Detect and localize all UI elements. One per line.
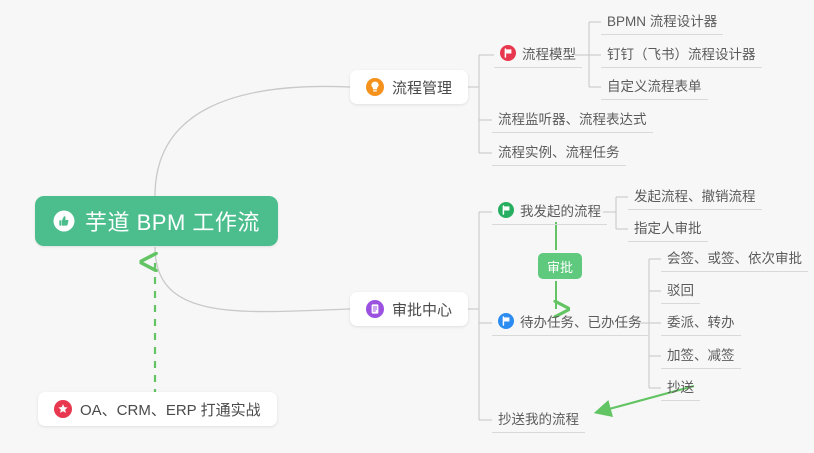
node-dingtalk-feishu-designer-label: 钉钉（飞书）流程设计器 — [607, 43, 756, 63]
flag-icon — [500, 45, 516, 61]
node-custom-process-form-label: 自定义流程表单 — [607, 75, 702, 95]
node-delegate-transfer-label: 委派、转办 — [667, 311, 735, 331]
node-my-initiated-label: 我发起的流程 — [520, 200, 601, 220]
node-reject[interactable]: 驳回 — [661, 278, 700, 304]
node-root-label: 芋道 BPM 工作流 — [85, 205, 260, 237]
node-approval-center[interactable]: 审批中心 — [350, 292, 468, 326]
node-integration-note[interactable]: OA、CRM、ERP 打通实战 — [38, 392, 277, 426]
node-instance-task-label: 流程实例、流程任务 — [498, 141, 620, 161]
node-my-initiated[interactable]: 我发起的流程 — [492, 199, 607, 225]
node-listener-expression[interactable]: 流程监听器、流程表达式 — [492, 107, 653, 133]
node-cc-label: 抄送 — [667, 376, 694, 396]
node-countersign-label: 会签、或签、依次审批 — [667, 247, 802, 267]
thumbs-up-icon — [53, 210, 75, 232]
node-process-management-label: 流程管理 — [392, 77, 452, 98]
flag-icon — [498, 202, 514, 218]
node-approval-center-label: 审批中心 — [392, 299, 452, 320]
node-dingtalk-feishu-designer[interactable]: 钉钉（飞书）流程设计器 — [601, 42, 762, 68]
node-todo-done-label: 待办任务、已办任务 — [520, 311, 642, 331]
star-icon — [54, 400, 72, 418]
node-start-cancel[interactable]: 发起流程、撤销流程 — [628, 184, 762, 210]
document-icon — [366, 300, 384, 318]
node-countersign[interactable]: 会签、或签、依次审批 — [661, 246, 808, 272]
node-assignee-approval-label: 指定人审批 — [634, 217, 702, 237]
node-todo-done[interactable]: 待办任务、已办任务 — [492, 310, 648, 336]
node-add-remove-sign-label: 加签、减签 — [667, 344, 735, 364]
node-listener-expression-label: 流程监听器、流程表达式 — [498, 108, 647, 128]
node-custom-process-form[interactable]: 自定义流程表单 — [601, 74, 708, 100]
node-integration-note-label: OA、CRM、ERP 打通实战 — [80, 399, 261, 420]
node-start-cancel-label: 发起流程、撤销流程 — [634, 185, 756, 205]
node-reject-label: 驳回 — [667, 279, 694, 299]
node-delegate-transfer[interactable]: 委派、转办 — [661, 310, 741, 336]
node-root[interactable]: 芋道 BPM 工作流 — [35, 196, 278, 246]
node-process-model-label: 流程模型 — [522, 43, 576, 63]
node-bpmn-designer-label: BPMN 流程设计器 — [607, 10, 717, 30]
node-add-remove-sign[interactable]: 加签、减签 — [661, 343, 741, 369]
node-bpmn-designer[interactable]: BPMN 流程设计器 — [601, 9, 723, 35]
flag-icon — [498, 313, 514, 329]
edge-root-to-approval-center — [155, 247, 350, 312]
edge-root-to-process-management — [155, 86, 350, 196]
node-approval-tag[interactable]: 审批 — [538, 253, 582, 279]
node-cc[interactable]: 抄送 — [661, 375, 700, 401]
mindmap-canvas: 芋道 BPM 工作流 流程管理 流程模型 BPMN 流程设计器 钉钉（飞书）流程… — [0, 0, 814, 453]
node-cc-to-me-label: 抄送我的流程 — [498, 408, 579, 428]
node-process-model[interactable]: 流程模型 — [494, 42, 582, 68]
node-process-management[interactable]: 流程管理 — [350, 70, 468, 104]
node-assignee-approval[interactable]: 指定人审批 — [628, 216, 708, 242]
node-approval-tag-label: 审批 — [547, 257, 573, 276]
lightbulb-icon — [366, 78, 384, 96]
node-instance-task[interactable]: 流程实例、流程任务 — [492, 140, 626, 166]
node-cc-to-me[interactable]: 抄送我的流程 — [492, 407, 585, 433]
